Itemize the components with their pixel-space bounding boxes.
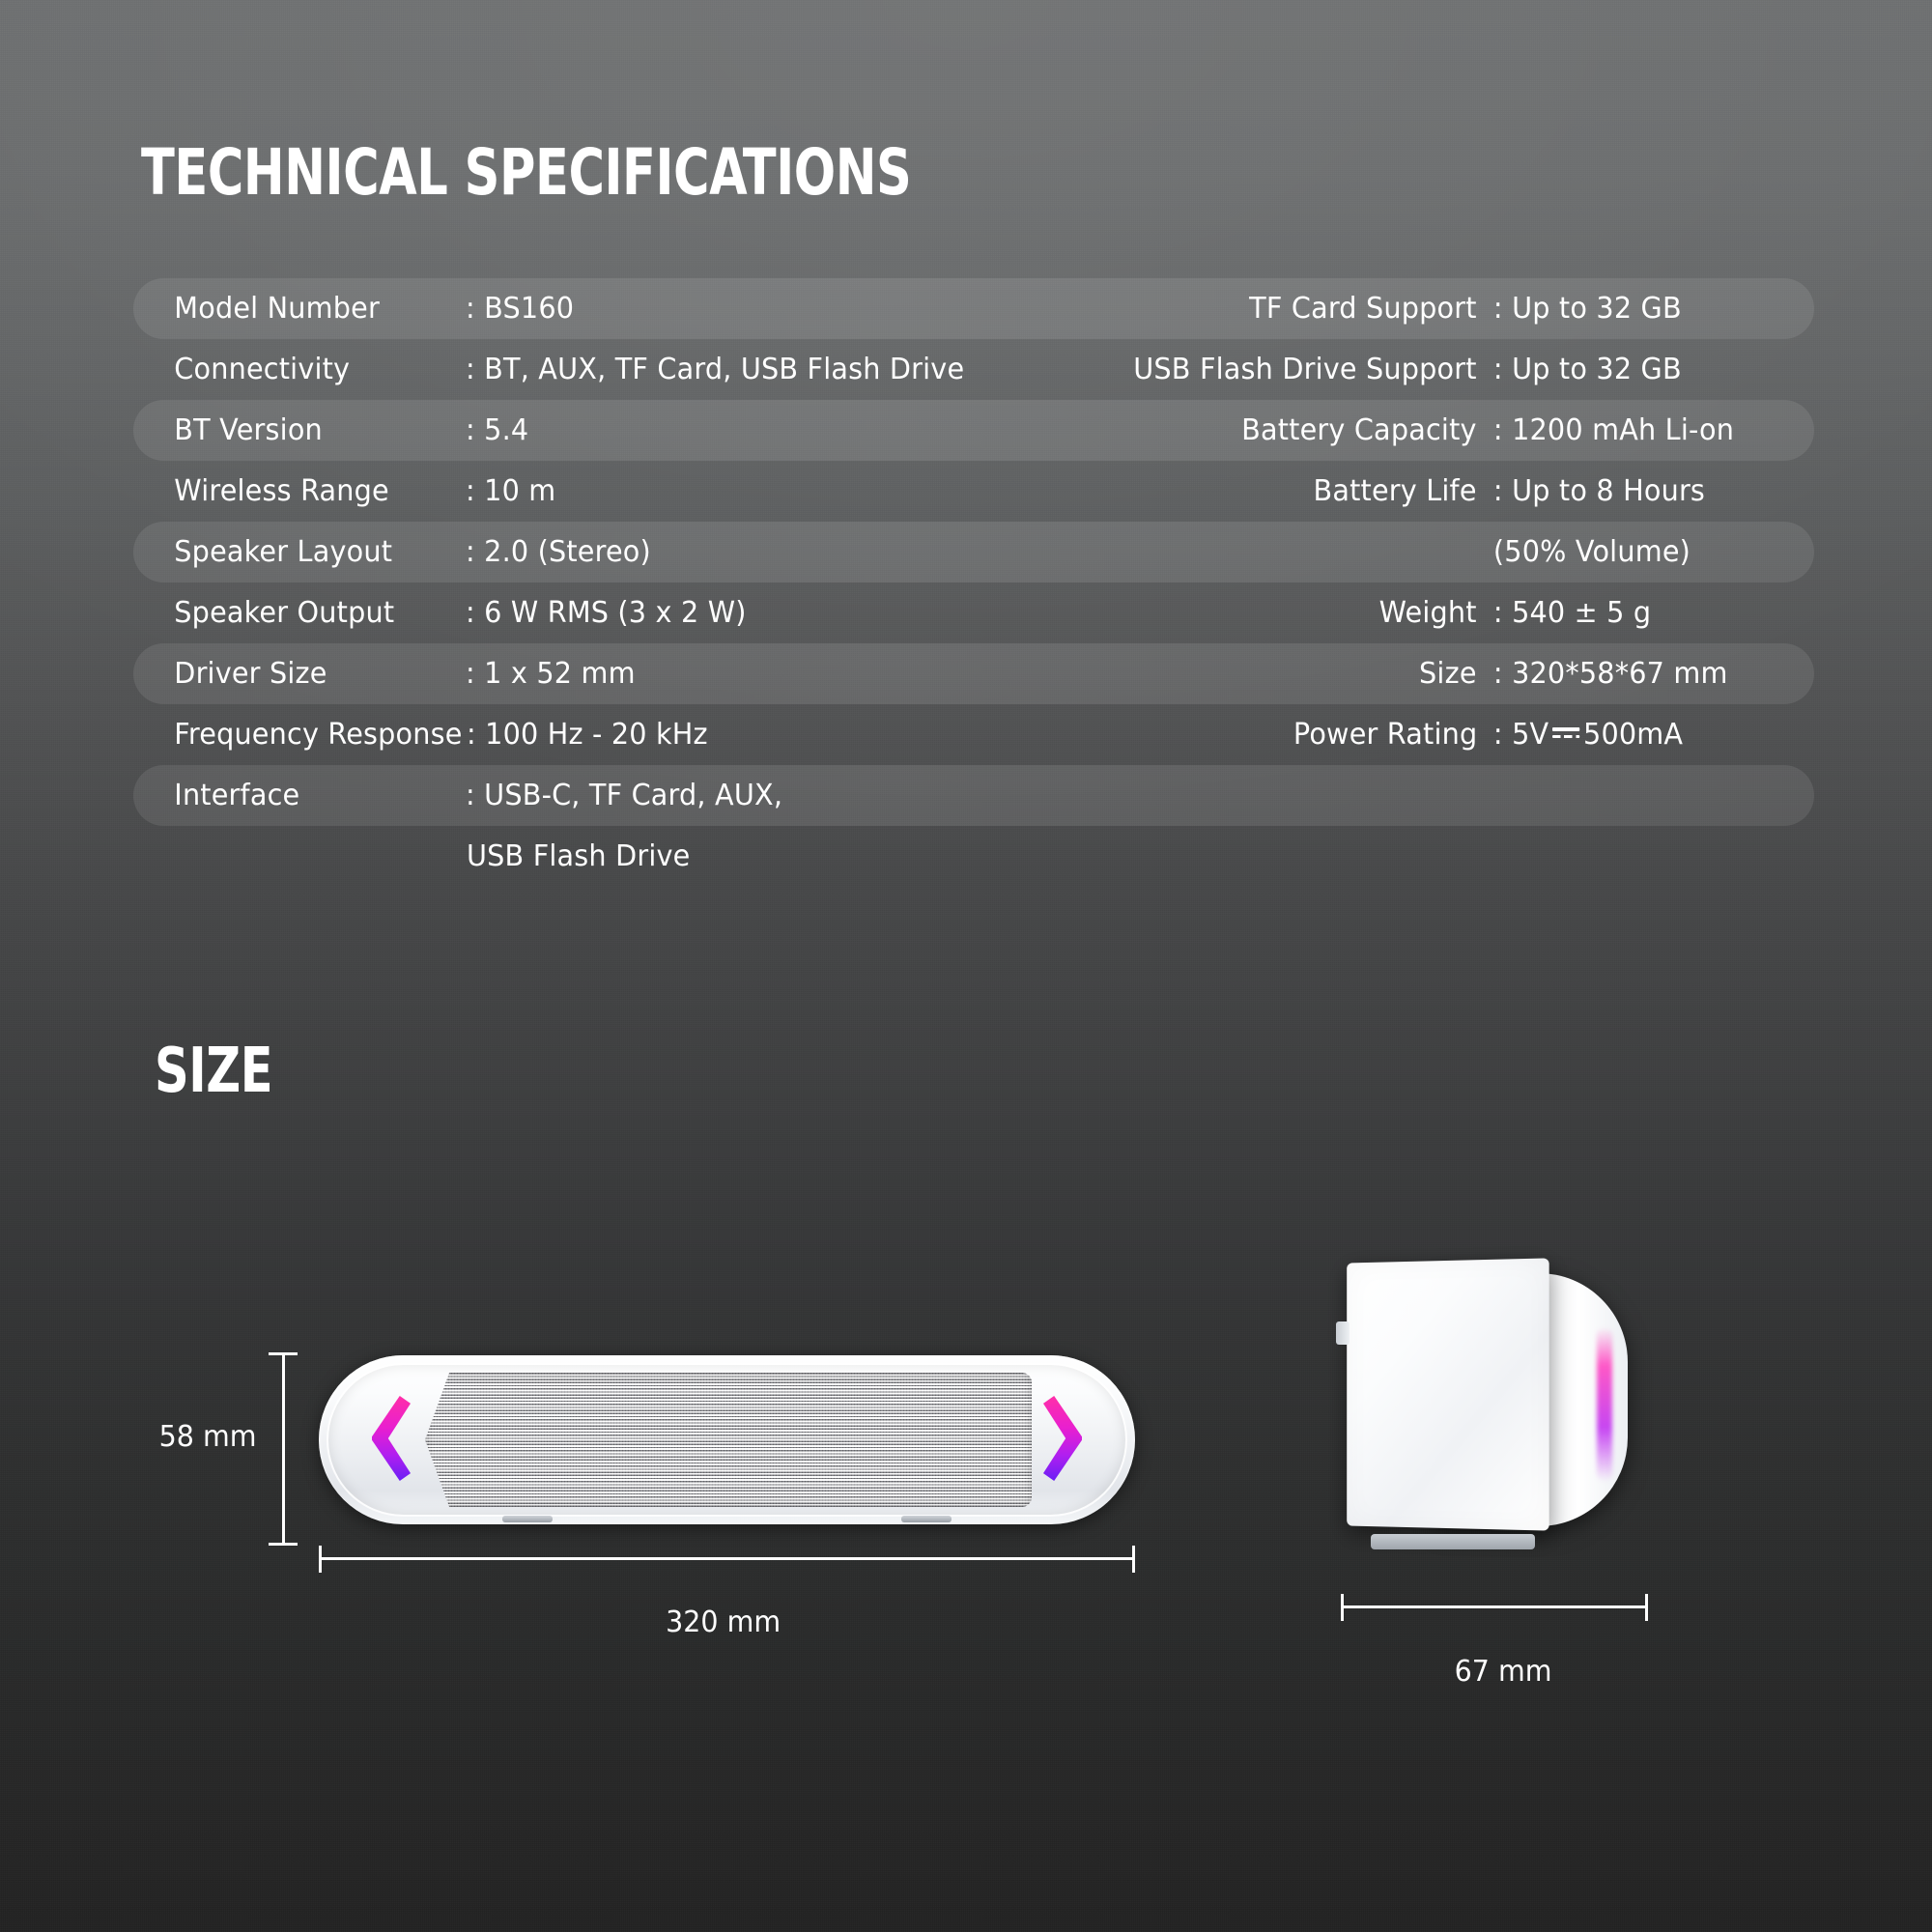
spec-left-value: : 1 x 52 mm xyxy=(466,657,1009,691)
spec-right-value: : Up to 32 GB xyxy=(1477,292,1794,326)
spec-right-label: USB Flash Drive Support xyxy=(1069,353,1477,386)
spec-left-value-continued: USB Flash Drive xyxy=(467,839,1011,873)
height-dimension-label: 58 mm xyxy=(159,1420,257,1454)
soundbar-side-view xyxy=(1338,1256,1628,1546)
spec-left-value: : BT, AUX, TF Card, USB Flash Drive xyxy=(466,353,1009,386)
spec-right-value: : 1200 mAh Li-on xyxy=(1477,413,1794,447)
height-dimension-cap-bottom xyxy=(269,1543,298,1546)
product-spec-page: TECHNICAL SPECIFICATIONS Model Number : … xyxy=(0,0,1932,1932)
soundbar-foot xyxy=(901,1516,952,1522)
spec-right-value: : Up to 8 Hours xyxy=(1477,474,1794,508)
depth-dimension-line xyxy=(1341,1605,1648,1608)
technical-specifications-heading: TECHNICAL SPECIFICATIONS xyxy=(141,135,911,210)
table-row: Frequency Response : 100 Hz - 20 kHz Pow… xyxy=(133,704,1814,765)
table-row: Connectivity : BT, AUX, TF Card, USB Fla… xyxy=(133,339,1814,400)
dc-power-symbol-icon xyxy=(1552,727,1579,738)
spec-right-label: TF Card Support xyxy=(1069,292,1477,326)
table-row-continuation: USB Flash Drive xyxy=(133,826,1814,886)
led-side-glow-icon xyxy=(1597,1327,1612,1482)
spec-left-label: Frequency Response xyxy=(133,718,446,752)
spec-right-label: Weight xyxy=(1069,596,1477,630)
spec-left-label: Connectivity xyxy=(133,353,445,386)
speaker-grille xyxy=(425,1373,1032,1507)
width-dimension-cap-right xyxy=(1132,1546,1135,1573)
table-row: Model Number : BS160 TF Card Support : U… xyxy=(133,278,1814,339)
spec-left-label: Driver Size xyxy=(133,657,445,691)
spec-left-value: : 2.0 (Stereo) xyxy=(466,535,1009,569)
spec-left-value: : 100 Hz - 20 kHz xyxy=(467,718,1009,752)
table-row: Speaker Output : 6 W RMS (3 x 2 W) Weigh… xyxy=(133,582,1814,643)
spec-right-value: : 5V500mA xyxy=(1477,718,1794,752)
spec-table: Model Number : BS160 TF Card Support : U… xyxy=(133,278,1814,886)
depth-dimension-label: 67 mm xyxy=(1455,1655,1552,1689)
spec-left-value: : 10 m xyxy=(466,474,1009,508)
spec-left-label: Wireless Range xyxy=(133,474,445,508)
spec-left-value: : USB-C, TF Card, AUX, xyxy=(466,779,1009,812)
soundbar-front-view xyxy=(319,1355,1135,1524)
width-dimension-label: 320 mm xyxy=(666,1605,781,1639)
spec-right-value: : Up to 32 GB xyxy=(1477,353,1794,386)
soundbar-side-panel xyxy=(1347,1258,1548,1530)
table-row: Driver Size : 1 x 52 mm Size : 320*58*67… xyxy=(133,643,1814,704)
height-dimension-line xyxy=(282,1352,285,1546)
spec-left-label: Speaker Layout xyxy=(133,535,445,569)
spec-left-value: : 5.4 xyxy=(466,413,1009,447)
spec-left-label: Speaker Output xyxy=(133,596,445,630)
spec-right-label: Battery Capacity xyxy=(1069,413,1477,447)
height-dimension-cap-top xyxy=(269,1352,298,1355)
soundbar-foot xyxy=(502,1516,553,1522)
spec-left-label: Model Number xyxy=(133,292,445,326)
soundbar-side-base xyxy=(1371,1534,1535,1549)
spec-right-value: : 540 ± 5 g xyxy=(1477,596,1794,630)
spec-right-label: Power Rating xyxy=(1070,718,1477,752)
spec-right-label: Size xyxy=(1069,657,1477,691)
spec-left-label: Interface xyxy=(133,779,445,812)
soundbar-side-port xyxy=(1336,1321,1350,1345)
spec-right-value-note: (50% Volume) xyxy=(1477,535,1794,569)
table-row: Wireless Range : 10 m Battery Life : Up … xyxy=(133,461,1814,522)
table-row: BT Version : 5.4 Battery Capacity : 1200… xyxy=(133,400,1814,461)
spec-right-label: Battery Life xyxy=(1069,474,1477,508)
spec-left-value: : BS160 xyxy=(466,292,1009,326)
depth-dimension-cap-right xyxy=(1645,1594,1648,1621)
depth-dimension-cap-left xyxy=(1341,1594,1344,1621)
spec-left-value: : 6 W RMS (3 x 2 W) xyxy=(466,596,1009,630)
spec-left-label: BT Version xyxy=(133,413,445,447)
width-dimension-line xyxy=(319,1557,1135,1560)
table-row: Speaker Layout : 2.0 (Stereo) (50% Volum… xyxy=(133,522,1814,582)
power-rating-suffix: 500mA xyxy=(1583,718,1683,752)
power-rating-prefix: : 5V xyxy=(1493,718,1548,752)
spec-right-value: : 320*58*67 mm xyxy=(1477,657,1794,691)
size-heading: SIZE xyxy=(155,1036,272,1107)
table-row: Interface : USB-C, TF Card, AUX, xyxy=(133,765,1814,826)
size-diagram xyxy=(0,1111,1932,1787)
width-dimension-cap-left xyxy=(319,1546,322,1573)
